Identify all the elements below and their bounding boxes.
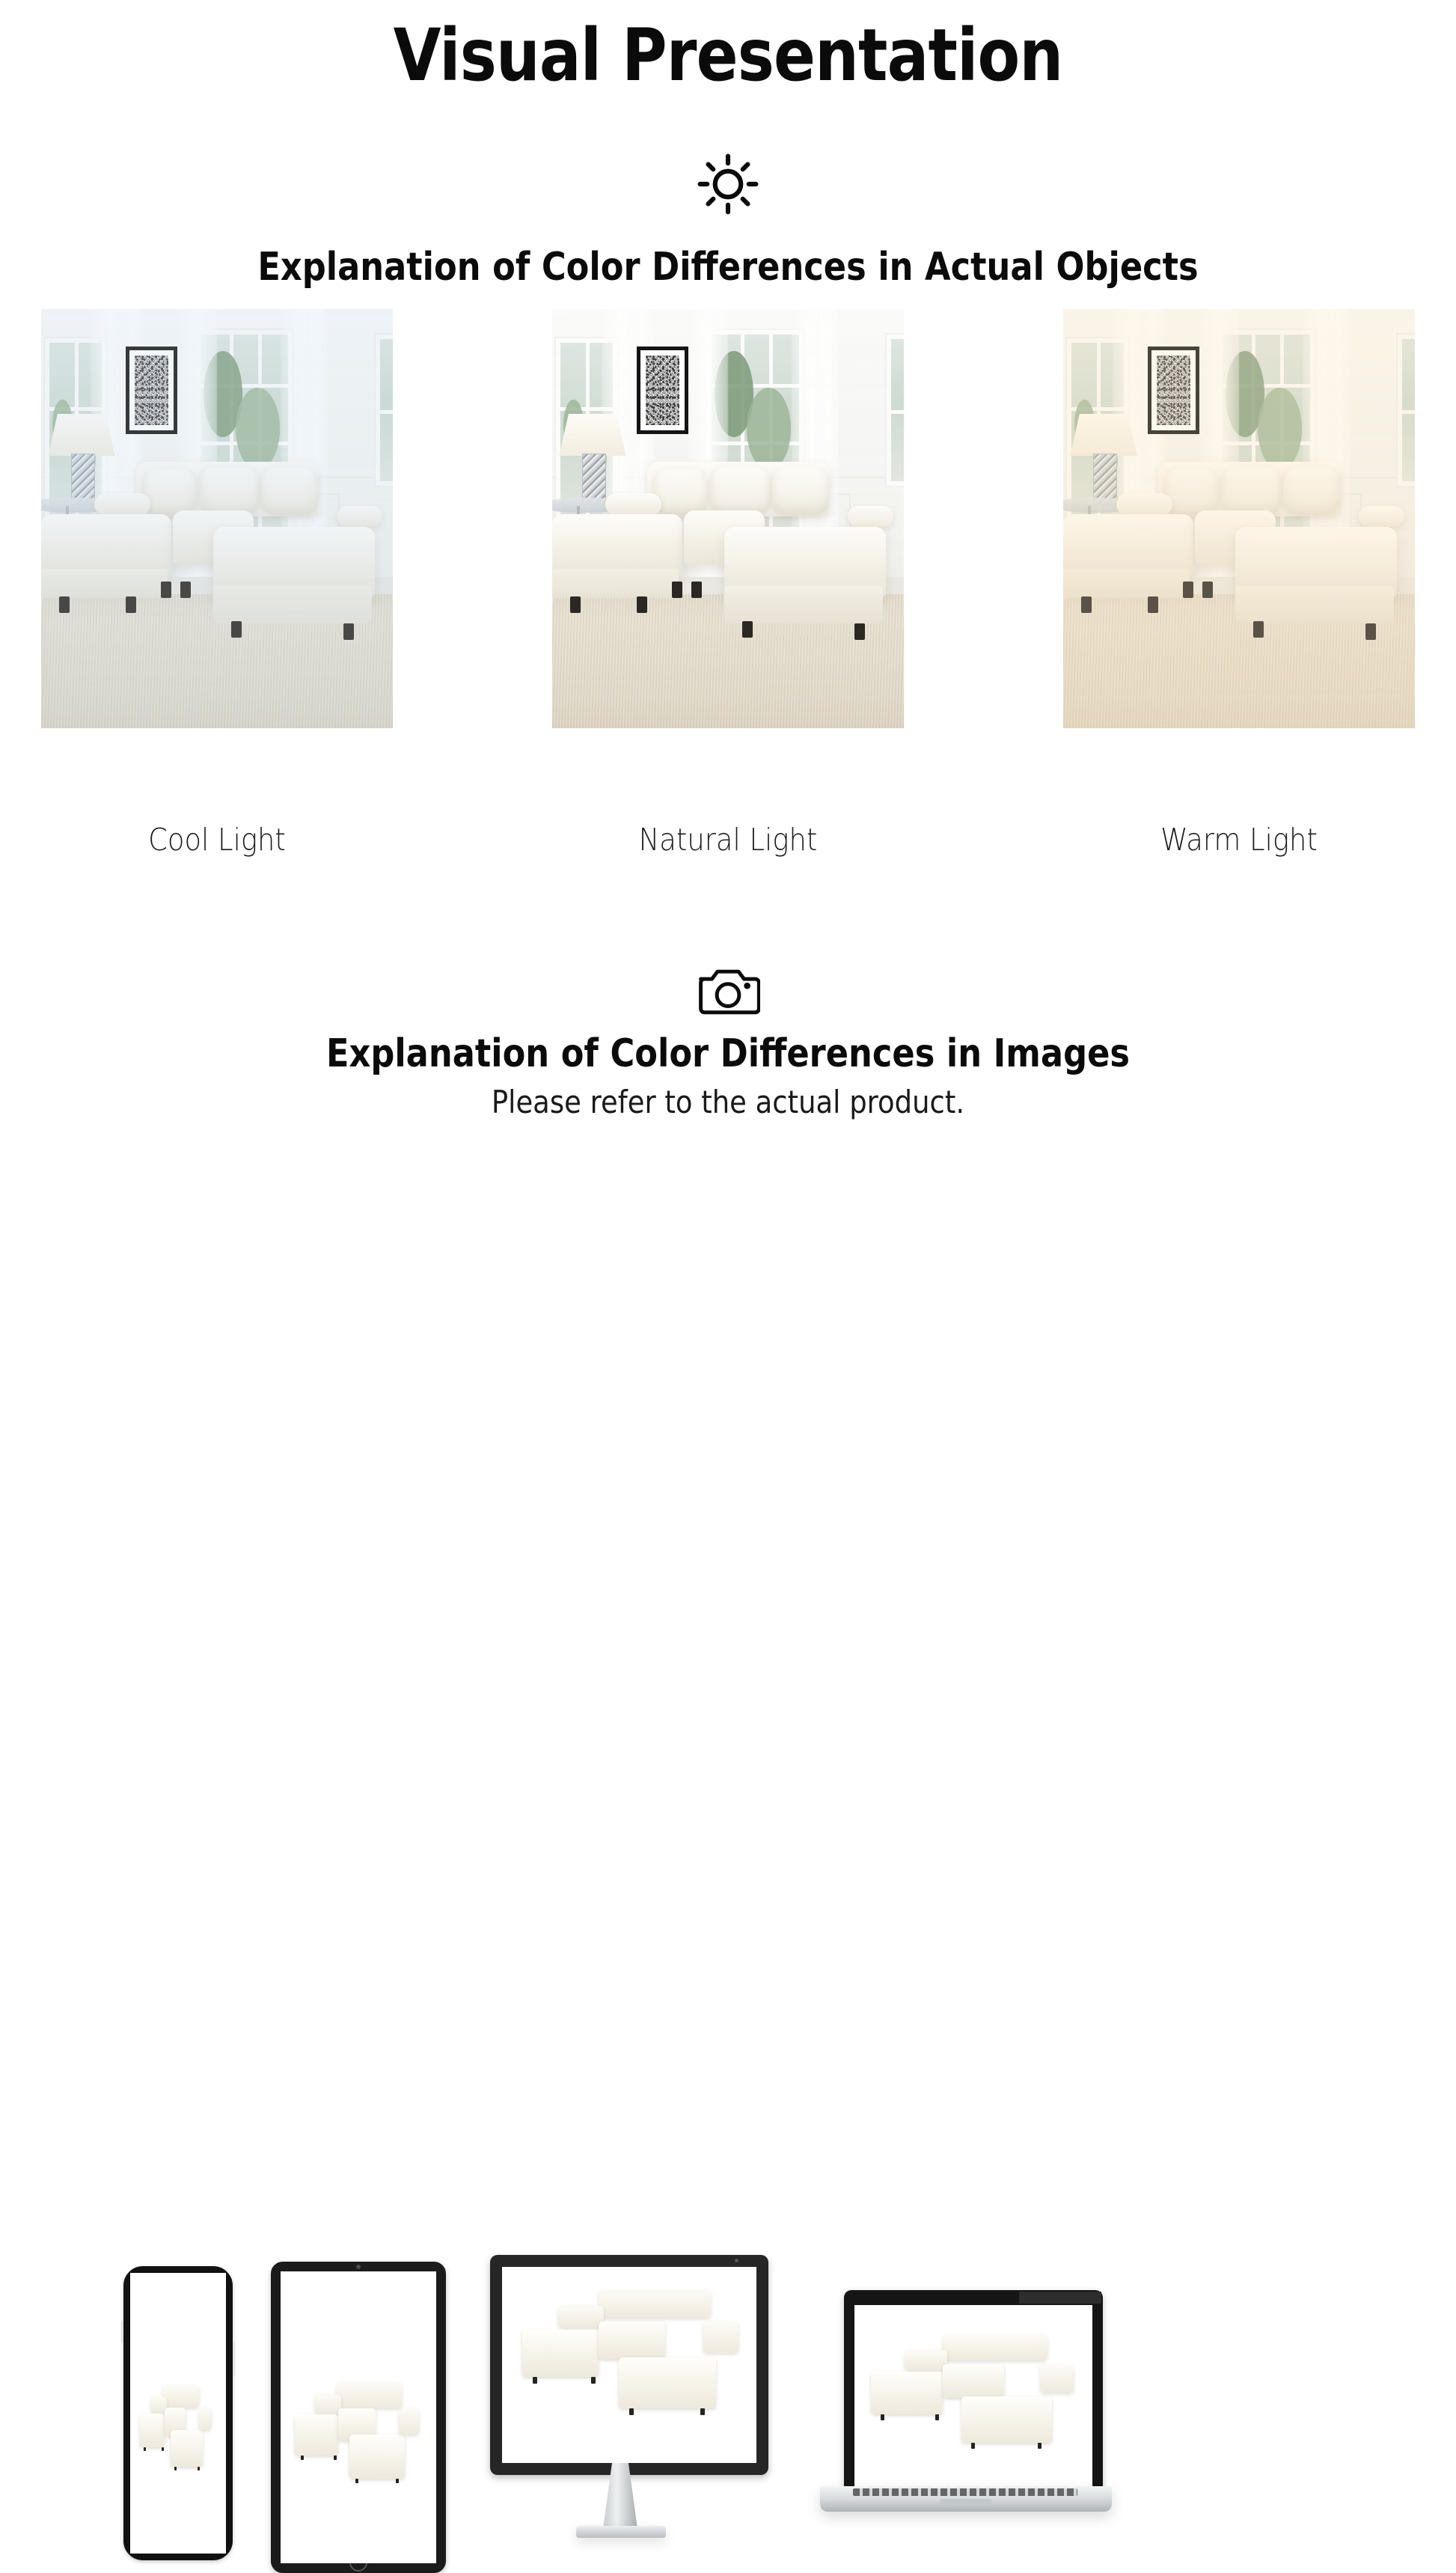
laptop-keyboard[interactable] — [853, 2488, 1077, 2496]
infographic-page: Visual Presentation Explanation of Color… — [0, 0, 1456, 1456]
laptop-keyboard-base — [820, 2486, 1112, 2512]
caption-cool-light: Cool Light — [59, 822, 376, 867]
section-title-images: Explanation of Color Differences in Imag… — [102, 1031, 1354, 1076]
tablet-screen-sofa-image — [281, 2271, 436, 2563]
section-title-objects: Explanation of Color Differences in Actu… — [102, 245, 1354, 290]
laptop-bezel-glint — [1019, 2292, 1101, 2304]
sun-icon-container — [0, 150, 1456, 219]
monitor-stand-base — [576, 2526, 666, 2538]
room-caption-row: Cool Light Natural Light Warm Light — [41, 822, 1415, 867]
phone-screen-sofa-image — [130, 2273, 226, 2554]
device-tablet — [271, 2262, 446, 2573]
tablet-front-camera — [356, 2265, 361, 2269]
device-smartphone — [123, 2266, 233, 2560]
page-title: Visual Presentation — [102, 18, 1354, 94]
laptop-trackpad[interactable] — [940, 2499, 992, 2505]
section-note: Please refer to the actual product. — [88, 1084, 1368, 1120]
phone-volume-button — [121, 2321, 123, 2343]
laptop-screen-sofa-image — [854, 2305, 1092, 2491]
camera-icon-container — [0, 964, 1456, 1016]
caption-warm-light: Warm Light — [1081, 822, 1398, 867]
caption-natural-light: Natural Light — [570, 822, 887, 867]
room-photo-warm — [1063, 309, 1415, 728]
camera-icon — [696, 964, 760, 1016]
sun-icon — [694, 150, 762, 219]
phone-power-button — [233, 2342, 235, 2376]
monitor-screen-sofa-image — [502, 2267, 756, 2463]
room-photo-row — [41, 309, 1415, 728]
device-desktop-monitor — [490, 2255, 768, 2475]
device-laptop-screen — [844, 2290, 1103, 2501]
monitor-camera — [735, 2259, 738, 2262]
device-row — [0, 1126, 1456, 1448]
room-photo-natural — [552, 309, 904, 728]
room-photo-cool — [41, 309, 393, 728]
